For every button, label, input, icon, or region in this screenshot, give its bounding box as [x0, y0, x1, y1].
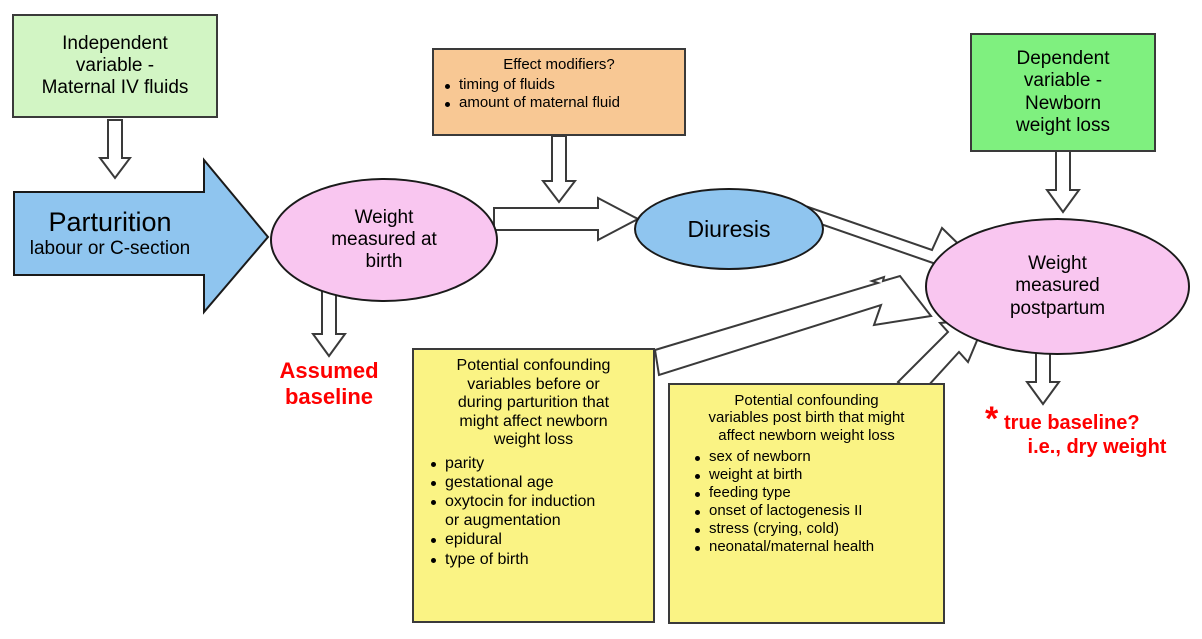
bullet-dot-icon: [695, 456, 700, 461]
weight-postpartum-ellipse: Weight measured postpartum: [925, 218, 1190, 355]
true-baseline-asterisk-icon: *: [985, 400, 998, 439]
confounders-after-list: sex of newborn weight at birth feeding t…: [670, 448, 943, 556]
bullet-dot-icon: [445, 102, 450, 107]
confounder-before-item-3: oxytocin for induction: [445, 493, 595, 510]
list-item: gestational age: [428, 473, 653, 492]
true-baseline-line-1: true baseline?: [1004, 412, 1190, 436]
dependent-variable-line-3: Newborn: [1025, 93, 1101, 115]
list-item: timing of fluids: [442, 76, 684, 94]
confounder-after-item-6: neonatal/maternal health: [709, 538, 874, 555]
bullet-dot-icon: [695, 492, 700, 497]
list-item-continuation: or augmentation: [428, 511, 653, 530]
confounders-before-heading-2: variables before or: [467, 376, 600, 395]
diuresis-label: Diuresis: [687, 216, 770, 243]
bullet-dot-icon: [431, 500, 436, 505]
bullet-dot-icon: [695, 546, 700, 551]
independent-variable-line-3: Maternal IV fluids: [42, 77, 189, 99]
confounders-before-birth-box: Potential confounding variables before o…: [412, 348, 655, 623]
weight-at-birth-line-1: Weight: [355, 207, 414, 229]
independent-variable-box: Independent variable - Maternal IV fluid…: [12, 14, 218, 118]
true-baseline-note: true baseline? i.e., dry weight: [1004, 412, 1190, 459]
weight-at-birth-line-2: measured at: [331, 229, 437, 251]
confounders-before-heading-1: Potential confounding: [457, 357, 611, 376]
confounders-before-heading-4: might affect newborn: [459, 413, 607, 432]
bullet-dot-icon: [695, 510, 700, 515]
confounder-after-item-2: weight at birth: [709, 466, 802, 483]
arrow-independent-to-parturition: [100, 120, 130, 178]
bullet-dot-icon: [431, 558, 436, 563]
confounders-after-heading-1: Potential confounding: [734, 392, 878, 409]
confounder-after-item-1: sex of newborn: [709, 448, 811, 465]
confounders-post-birth-box: Potential confounding variables post bir…: [668, 383, 945, 624]
list-item: weight at birth: [692, 466, 943, 484]
assumed-baseline-line-1: Assumed: [262, 358, 396, 384]
effect-modifiers-heading: Effect modifiers?: [503, 56, 614, 73]
bullet-dot-icon: [445, 84, 450, 89]
list-item: oxytocin for induction: [428, 492, 653, 511]
dependent-variable-line-2: variable -: [1024, 70, 1102, 92]
list-item: amount of maternal fluid: [442, 94, 684, 112]
weight-at-birth-line-3: birth: [366, 251, 403, 273]
list-item: parity: [428, 454, 653, 473]
independent-variable-line-2: variable -: [76, 55, 154, 77]
arrow-effect-modifiers-down: [543, 136, 575, 202]
confounder-before-item-2: gestational age: [445, 474, 554, 491]
confounders-before-heading-3: during parturition that: [458, 394, 609, 413]
diuresis-ellipse: Diuresis: [634, 188, 824, 270]
weight-at-birth-ellipse: Weight measured at birth: [270, 178, 498, 302]
bullet-dot-icon: [695, 474, 700, 479]
confounder-before-item-3-cont: or augmentation: [445, 512, 561, 529]
arrow-weight-at-birth-to-diuresis: [494, 198, 638, 240]
parturition-subtitle: labour or C-section: [30, 238, 191, 260]
diagram-canvas: Independent variable - Maternal IV fluid…: [0, 0, 1202, 639]
confounder-before-item-1: parity: [445, 455, 484, 472]
effect-modifier-item-1: timing of fluids: [459, 76, 555, 93]
bullet-dot-icon: [431, 538, 436, 543]
list-item: feeding type: [692, 484, 943, 502]
independent-variable-line-1: Independent: [62, 33, 168, 55]
confounders-before-heading-5: weight loss: [494, 431, 573, 450]
dependent-variable-line-1: Dependent: [1017, 48, 1110, 70]
bullet-dot-icon: [431, 462, 436, 467]
list-item: type of birth: [428, 550, 653, 569]
confounders-after-heading-3: affect newborn weight loss: [718, 427, 895, 444]
effect-modifiers-list: timing of fluids amount of maternal flui…: [434, 76, 684, 112]
dependent-variable-line-4: weight loss: [1016, 115, 1110, 137]
dependent-variable-box: Dependent variable - Newborn weight loss: [970, 33, 1156, 152]
confounders-after-heading-2: variables post birth that might: [709, 409, 905, 426]
parturition-title: Parturition: [48, 207, 171, 238]
arrow-weight-postpartum-to-true-baseline: [1027, 348, 1059, 404]
weight-postpartum-line-3: postpartum: [1010, 298, 1105, 320]
confounder-after-item-3: feeding type: [709, 484, 791, 501]
assumed-baseline-line-2: baseline: [262, 384, 396, 410]
weight-postpartum-line-1: Weight: [1028, 253, 1087, 275]
confounder-before-item-4: epidural: [445, 531, 502, 548]
true-baseline-line-2: i.e., dry weight: [1004, 436, 1190, 460]
arrow-dependent-to-weight-postpartum: [1047, 150, 1079, 212]
bullet-dot-icon: [431, 481, 436, 486]
assumed-baseline-note: Assumed baseline: [262, 358, 396, 410]
list-item: epidural: [428, 530, 653, 549]
effect-modifier-item-2: amount of maternal fluid: [459, 94, 620, 111]
list-item: neonatal/maternal health: [692, 538, 943, 556]
weight-postpartum-line-2: measured: [1015, 275, 1100, 297]
list-item: onset of lactogenesis II: [692, 502, 943, 520]
effect-modifiers-box: Effect modifiers? timing of fluids amoun…: [432, 48, 686, 136]
arrow-weight-at-birth-to-assumed-baseline: [313, 288, 345, 356]
confounder-after-item-4: onset of lactogenesis II: [709, 502, 862, 519]
confounders-before-list: parity gestational age oxytocin for indu…: [414, 454, 653, 569]
list-item: sex of newborn: [692, 448, 943, 466]
list-item: stress (crying, cold): [692, 520, 943, 538]
confounder-after-item-5: stress (crying, cold): [709, 520, 839, 537]
arrow-confounders-before-to-weight-postpartum: [655, 276, 931, 375]
parturition-arrow: Parturition labour or C-section: [14, 192, 206, 275]
bullet-dot-icon: [695, 528, 700, 533]
confounder-before-item-5: type of birth: [445, 551, 529, 568]
